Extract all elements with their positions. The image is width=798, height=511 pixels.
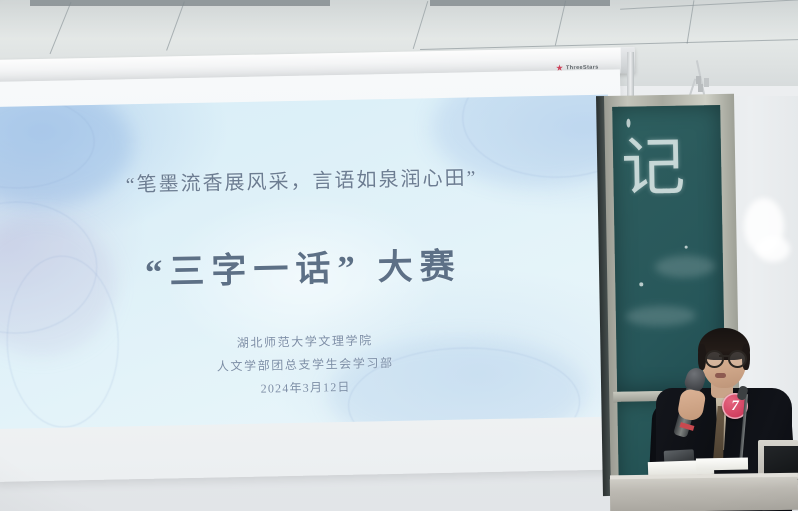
chalk-dot [626,119,630,128]
glasses-bridge [719,355,729,357]
wall-cable-clip [696,76,701,84]
badge-number: 7 [731,398,739,415]
glasses-left-lens [705,350,724,368]
classroom-photo-scene: ThreeStars “笔墨流香展风采，言语如泉润心田” “三字一话” 大赛 湖… [0,0,798,511]
mouth [715,373,726,378]
podium-desk [610,477,798,511]
chalk-smudge [626,305,696,326]
slide-title: “三字一话” 大赛 [0,235,612,298]
projected-slide: “笔墨流香展风采，言语如泉润心田” “三字一话” 大赛 湖北师范大学文理学院 人… [0,95,614,429]
glasses-right-lens [728,350,747,368]
chalkboard-writing: 记 [611,126,696,209]
wall-scuff-mark [756,236,790,262]
papers-sheet [696,458,748,471]
wall-cable-clip [704,78,709,87]
screen-hanger-bracket [627,52,634,96]
wall-cable-clip [698,84,703,92]
chalk-dot [685,246,688,249]
chalk-smudge [655,255,715,278]
chalk-dot [639,282,643,286]
